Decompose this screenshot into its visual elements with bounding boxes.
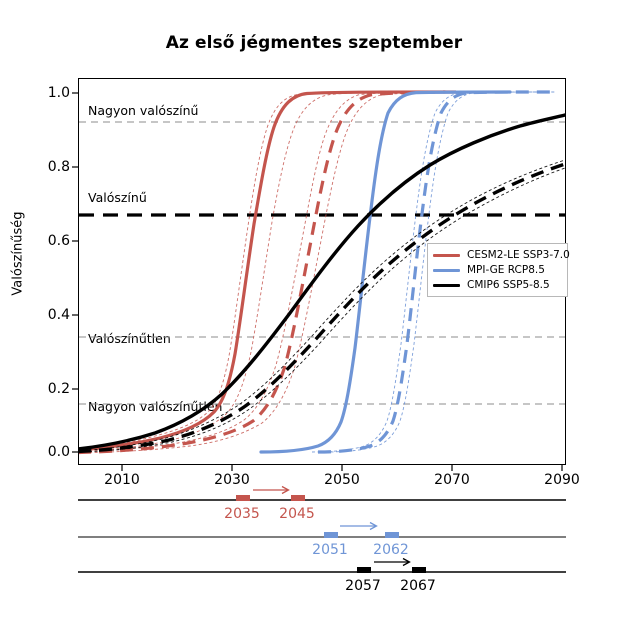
band-cesm2-dashed-high [78,92,470,453]
timeline-cesm2-arrow [253,487,289,494]
timeline-cesm2-marker-2045 [291,495,305,501]
band-cmip6-dashed-high [78,168,565,452]
y-axis-ticks [72,93,78,452]
x-axis-ticks [122,465,562,471]
timeline-mpi-ge [78,523,566,539]
chart-vector-layer [0,0,628,628]
timeline-cmip6-marker-2067 [412,567,426,573]
series-cmip6-solid [78,115,565,449]
series-cmip6-dashed [78,164,565,452]
chart-page: Az első jégmentes szeptember 1.0 0.8 0.6… [0,0,628,628]
timeline-cesm2-marker-2035 [236,495,250,501]
series-mpi-dashed [318,92,551,452]
timeline-cmip6 [78,559,566,574]
timeline-cmip6-arrow [374,559,410,566]
timeline-mpi-marker-2051 [324,532,338,538]
timeline-cmip6-marker-2057 [357,567,371,573]
band-mpi-dashed-high [325,92,556,452]
timeline-cesm2 [78,487,566,502]
timeline-mpi-marker-2062 [385,532,399,538]
threshold-lines [79,122,565,404]
series-group [78,92,565,453]
series-mpi-solid [261,92,510,452]
band-cesm2-solid-low [78,92,420,449]
timeline-mpi-arrow [340,523,377,530]
band-cmip6-dashed-low [78,160,565,451]
